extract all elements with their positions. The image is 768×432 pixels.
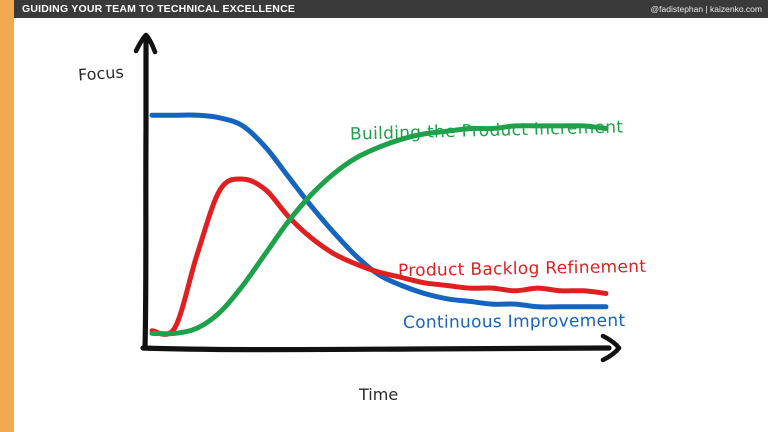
series-label-continuous-improvement: Continuous Improvement [403, 311, 626, 333]
slide-canvas: GUIDING YOUR TEAM TO TECHNICAL EXCELLENC… [0, 0, 768, 432]
header-bar: GUIDING YOUR TEAM TO TECHNICAL EXCELLENC… [14, 0, 768, 18]
y-axis [136, 35, 155, 348]
y-axis-label: Focus [77, 62, 124, 84]
chart-plot-svg [14, 18, 768, 432]
x-axis-label: Time [359, 385, 398, 404]
series-line-building-the-product-increment [152, 126, 606, 334]
focus-over-time-chart: Focus Time Building the Product Incremen… [14, 18, 768, 432]
author-credit: @fadistephan | kaizenko.com [651, 4, 762, 14]
page-title: GUIDING YOUR TEAM TO TECHNICAL EXCELLENC… [22, 3, 295, 15]
left-accent-stripe [0, 0, 14, 432]
x-axis [143, 336, 619, 360]
